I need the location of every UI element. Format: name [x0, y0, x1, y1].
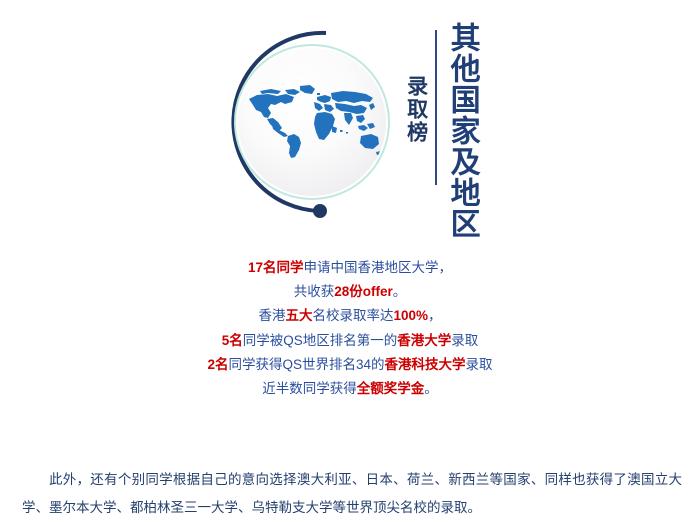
highlight-body-text: 近半数同学获得 — [262, 381, 357, 396]
highlight-accent-text: 100% — [393, 308, 428, 323]
hero-title-sub: 录取榜 — [404, 75, 427, 144]
highlight-accent-text: 28份offer — [334, 284, 393, 299]
highlight-body-text: 。 — [393, 284, 407, 299]
highlight-line: 香港五大名校录取率达100%， — [0, 304, 700, 328]
highlight-accent-text: 2名 — [207, 357, 228, 372]
highlight-accent-text: 香港大学 — [397, 333, 451, 348]
highlight-body-text: 同学被QS地区排名第一的 — [243, 333, 398, 348]
highlight-accent-text: 五大 — [285, 308, 312, 323]
highlight-line: 5名同学被QS地区排名第一的香港大学录取 — [0, 329, 700, 353]
highlight-line: 近半数同学获得全额奖学金。 — [0, 377, 700, 401]
highlight-body-text: 名校录取率达 — [312, 308, 393, 323]
highlight-body-text: 。 — [424, 381, 438, 396]
highlight-body-text: 同学获得QS世界排名34的 — [228, 357, 384, 372]
hero-title: 录取榜 其他国家及地区 — [404, 22, 477, 220]
hero-title-divider — [435, 30, 437, 185]
footnote-paragraph: 此外，还有个别同学根据自己的意向选择澳大利亚、日本、荷兰、新西兰等国家、同样也获… — [22, 466, 682, 522]
highlight-body-text: 香港 — [258, 308, 285, 323]
highlight-accent-text: 17名同学 — [248, 260, 304, 275]
globe-graphic — [216, 24, 408, 224]
hero-banner: 录取榜 其他国家及地区 — [0, 0, 700, 240]
highlight-line: 2名同学获得QS世界排名34的香港科技大学录取 — [0, 353, 700, 377]
highlight-accent-text: 5名 — [222, 333, 243, 348]
highlight-body-text: 录取 — [466, 357, 493, 372]
hero-title-main: 其他国家及地区 — [446, 22, 477, 239]
highlight-body-text: 申请中国香港地区大学， — [304, 260, 453, 275]
highlight-line: 17名同学申请中国香港地区大学， — [0, 256, 700, 280]
highlight-line: 共收获28份offer。 — [0, 280, 700, 304]
highlight-body-text: 录取 — [451, 333, 478, 348]
highlight-body-text: 共收获 — [294, 284, 335, 299]
highlight-lines: 17名同学申请中国香港地区大学，共收获28份offer。香港五大名校录取率达10… — [0, 256, 700, 401]
highlight-body-text: ， — [428, 308, 442, 323]
world-map-icon — [238, 48, 386, 196]
arc-end-dot-icon — [313, 204, 327, 218]
highlight-accent-text: 全额奖学金 — [357, 381, 425, 396]
highlight-accent-text: 香港科技大学 — [385, 357, 466, 372]
